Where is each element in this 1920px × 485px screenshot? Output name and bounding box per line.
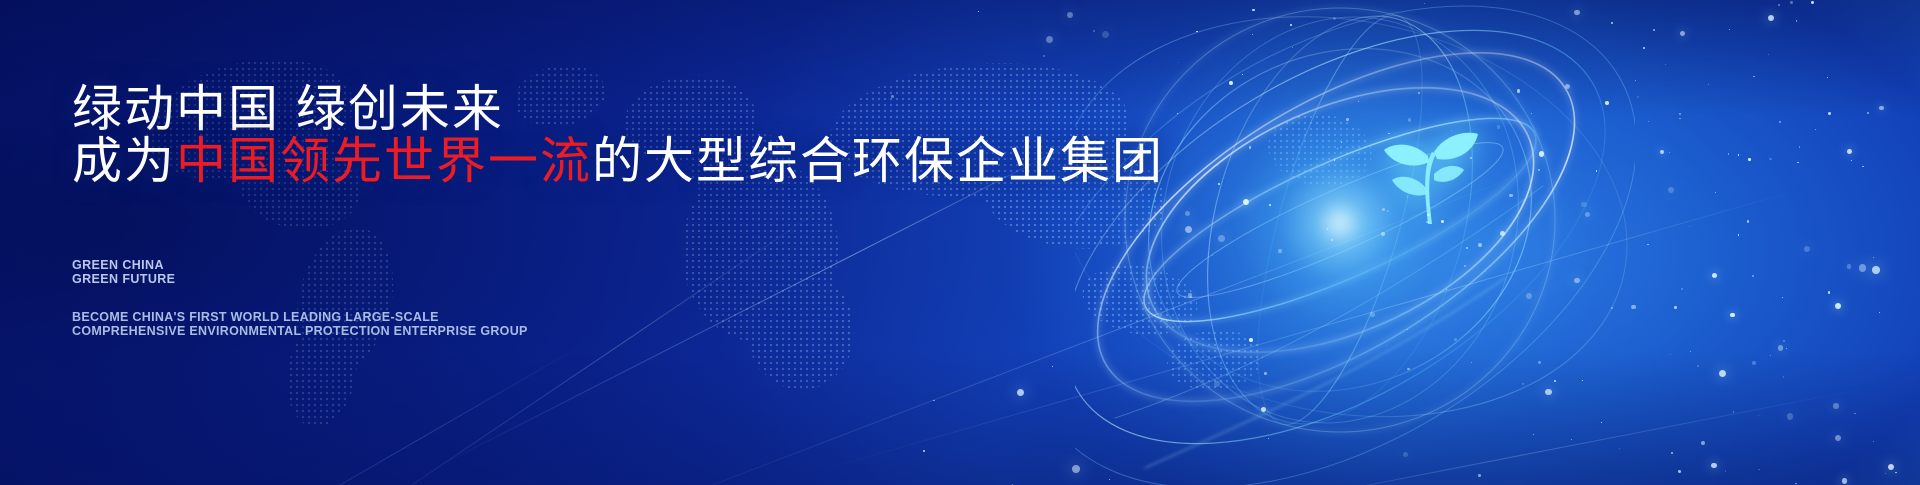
particle xyxy=(1738,234,1739,235)
headline-secondary-accent: 中国领先世界一流 xyxy=(176,133,592,189)
particle xyxy=(1214,381,1220,387)
particle xyxy=(1218,183,1220,185)
particle xyxy=(1217,165,1218,166)
particle xyxy=(1185,226,1192,233)
particle xyxy=(1778,4,1780,6)
particle xyxy=(1497,125,1500,128)
particle xyxy=(1669,152,1670,153)
particle xyxy=(1386,345,1388,347)
particle xyxy=(1847,264,1852,269)
particle xyxy=(1611,307,1612,308)
particle xyxy=(1799,146,1800,147)
particle xyxy=(1358,101,1359,102)
particle xyxy=(1408,118,1411,121)
particle xyxy=(1712,273,1717,278)
particle xyxy=(1252,9,1255,12)
particle xyxy=(1619,448,1620,449)
particle xyxy=(1779,121,1781,123)
particle xyxy=(1464,265,1466,267)
particle xyxy=(1708,84,1709,85)
particle xyxy=(1582,380,1583,381)
particle xyxy=(1888,464,1894,470)
particle xyxy=(1249,146,1252,149)
particle xyxy=(1679,118,1680,119)
particle xyxy=(1478,243,1482,247)
particle xyxy=(1370,312,1375,317)
particle xyxy=(1471,362,1472,363)
particle xyxy=(1833,403,1838,408)
tagline-english: BECOME CHINA'S FIRST WORLD LEADING LARGE… xyxy=(72,310,528,338)
particle xyxy=(1188,293,1193,298)
particle xyxy=(1249,338,1253,342)
particle xyxy=(1290,24,1292,26)
particle xyxy=(1538,169,1540,171)
particle xyxy=(1269,204,1271,206)
tagline-english-line1: BECOME CHINA'S FIRST WORLD LEADING LARGE… xyxy=(72,310,528,324)
particle xyxy=(1539,151,1545,157)
particle xyxy=(1795,483,1797,485)
particle xyxy=(1725,470,1726,471)
particle xyxy=(1531,113,1532,114)
particle xyxy=(1177,113,1178,114)
particle xyxy=(1782,297,1783,298)
particle xyxy=(1873,441,1874,442)
particle xyxy=(1407,329,1408,330)
banner-copy: 绿动中国 绿创未来 成为中国领先世界一流的大型综合环保企业集团 GREEN CH… xyxy=(72,0,1132,485)
particle xyxy=(1334,159,1336,161)
particle xyxy=(1196,31,1197,32)
particle xyxy=(1451,130,1452,131)
particle xyxy=(1242,74,1243,75)
tagline-english-line2: COMPREHENSIVE ENVIRONMENTAL PROTECTION E… xyxy=(72,324,528,338)
particle xyxy=(1835,303,1841,309)
slogan-english-line1: GREEN CHINA xyxy=(72,258,175,272)
particle xyxy=(1500,231,1506,237)
particle xyxy=(1333,17,1336,20)
headline-secondary-prefix: 成为 xyxy=(72,133,176,189)
particle xyxy=(1674,306,1677,309)
particle xyxy=(1847,149,1852,154)
particle xyxy=(1454,338,1457,341)
particle xyxy=(1637,96,1639,98)
particle xyxy=(1804,246,1810,252)
particle xyxy=(1268,438,1269,439)
particle xyxy=(1797,162,1799,164)
particle xyxy=(1382,208,1385,211)
particle xyxy=(1828,112,1831,115)
particle xyxy=(1466,247,1468,249)
particle xyxy=(1730,313,1735,318)
particle xyxy=(1665,64,1666,65)
particle xyxy=(1292,47,1293,48)
particle xyxy=(1758,415,1759,416)
particle xyxy=(1670,354,1671,355)
particle xyxy=(1478,474,1481,477)
particle xyxy=(1747,220,1749,222)
particle xyxy=(1388,133,1389,134)
particle xyxy=(1407,368,1410,371)
particle xyxy=(1261,407,1267,413)
particle xyxy=(1671,452,1673,454)
particle xyxy=(1862,166,1864,168)
particle xyxy=(1264,372,1267,375)
particle xyxy=(1811,1,1814,4)
particle xyxy=(1697,365,1699,367)
particle xyxy=(1538,361,1541,364)
particle xyxy=(1770,355,1771,356)
particle xyxy=(1141,189,1142,190)
particle xyxy=(1715,192,1717,194)
particle xyxy=(1446,289,1447,290)
particle xyxy=(1752,361,1756,365)
particle xyxy=(1738,154,1739,155)
particle xyxy=(1859,264,1866,271)
particle xyxy=(1554,380,1556,382)
particle xyxy=(1470,157,1472,159)
particle xyxy=(1711,463,1717,469)
particle xyxy=(1778,345,1784,351)
particle xyxy=(1701,441,1705,445)
particle xyxy=(1689,226,1690,227)
particle xyxy=(1729,29,1730,30)
particle xyxy=(1565,84,1570,89)
particle xyxy=(1678,470,1682,474)
particle xyxy=(1668,187,1674,193)
particle xyxy=(1681,288,1683,290)
particle xyxy=(1601,422,1602,423)
particle xyxy=(1509,194,1513,198)
particle xyxy=(1441,220,1444,223)
particle xyxy=(1407,196,1408,197)
particle xyxy=(1643,47,1646,50)
particle xyxy=(1229,81,1233,85)
particle xyxy=(1426,221,1428,223)
slogan-english: GREEN CHINA GREEN FUTURE xyxy=(72,258,175,286)
particle xyxy=(1787,413,1793,419)
particle xyxy=(1796,20,1797,21)
particle xyxy=(1403,452,1408,457)
particle xyxy=(1635,80,1636,81)
particle xyxy=(1605,101,1609,105)
particle xyxy=(1522,383,1524,385)
particle xyxy=(1427,214,1430,217)
particle xyxy=(1680,31,1685,36)
particle xyxy=(1879,106,1884,111)
particle xyxy=(1526,293,1532,299)
particle xyxy=(1872,266,1880,274)
particle xyxy=(1786,348,1787,349)
particle xyxy=(1418,92,1421,95)
particle xyxy=(1574,10,1580,16)
particle xyxy=(1533,434,1534,435)
particle xyxy=(1790,1,1793,4)
headline-secondary-suffix: 的大型综合环保企业集团 xyxy=(592,133,1164,189)
headline-primary: 绿动中国 绿创未来 xyxy=(72,84,504,134)
particle xyxy=(1252,34,1253,35)
particle xyxy=(1753,76,1754,77)
particle xyxy=(1835,435,1841,441)
particle xyxy=(1212,255,1213,256)
particle xyxy=(1854,413,1855,414)
particle xyxy=(1827,77,1828,78)
particle xyxy=(1387,210,1389,212)
particle xyxy=(1719,370,1726,377)
particle xyxy=(1218,235,1225,242)
particle xyxy=(1828,291,1831,294)
particle xyxy=(1758,469,1760,471)
particle xyxy=(1243,199,1249,205)
particle xyxy=(1768,15,1774,21)
particle xyxy=(1517,89,1520,92)
particle xyxy=(1178,62,1179,63)
particle xyxy=(1885,473,1886,474)
particle xyxy=(1485,271,1486,272)
particle xyxy=(1596,170,1598,172)
headline-secondary: 成为中国领先世界一流的大型综合环保企业集团 xyxy=(72,136,1164,186)
particle xyxy=(1185,211,1190,216)
particle xyxy=(1346,118,1349,121)
particle xyxy=(1337,148,1338,149)
particle xyxy=(1327,228,1329,230)
particle xyxy=(1571,439,1573,441)
particle xyxy=(1851,160,1852,161)
particle xyxy=(1879,312,1880,313)
particle xyxy=(1752,275,1754,277)
particle xyxy=(1581,202,1587,208)
particle xyxy=(1690,351,1691,352)
particle xyxy=(1728,153,1730,155)
particle xyxy=(1842,478,1847,483)
particle xyxy=(1873,257,1874,258)
particle xyxy=(1733,411,1734,412)
particle xyxy=(1867,112,1870,115)
particle xyxy=(1783,376,1785,378)
particle xyxy=(1278,249,1282,253)
particle xyxy=(1815,129,1817,131)
particle xyxy=(1648,121,1649,122)
particle xyxy=(1895,472,1897,474)
particle xyxy=(1545,389,1552,396)
particle xyxy=(1381,232,1385,236)
particle xyxy=(1679,113,1681,115)
particle xyxy=(1769,158,1771,160)
particle xyxy=(1748,158,1750,160)
particle xyxy=(1647,244,1649,246)
particle xyxy=(1768,54,1769,55)
slogan-english-line2: GREEN FUTURE xyxy=(72,272,175,286)
particle xyxy=(1585,212,1590,217)
particle xyxy=(1341,142,1343,144)
particle xyxy=(1653,29,1656,32)
hero-banner: 绿动中国 绿创未来 成为中国领先世界一流的大型综合环保企业集团 GREEN CH… xyxy=(0,0,1920,485)
particle xyxy=(1574,278,1579,283)
particle xyxy=(1611,22,1614,25)
particle xyxy=(1424,3,1425,4)
particle xyxy=(1331,239,1333,241)
particle xyxy=(1355,233,1357,235)
particle xyxy=(1631,305,1635,309)
particle xyxy=(1783,340,1785,342)
